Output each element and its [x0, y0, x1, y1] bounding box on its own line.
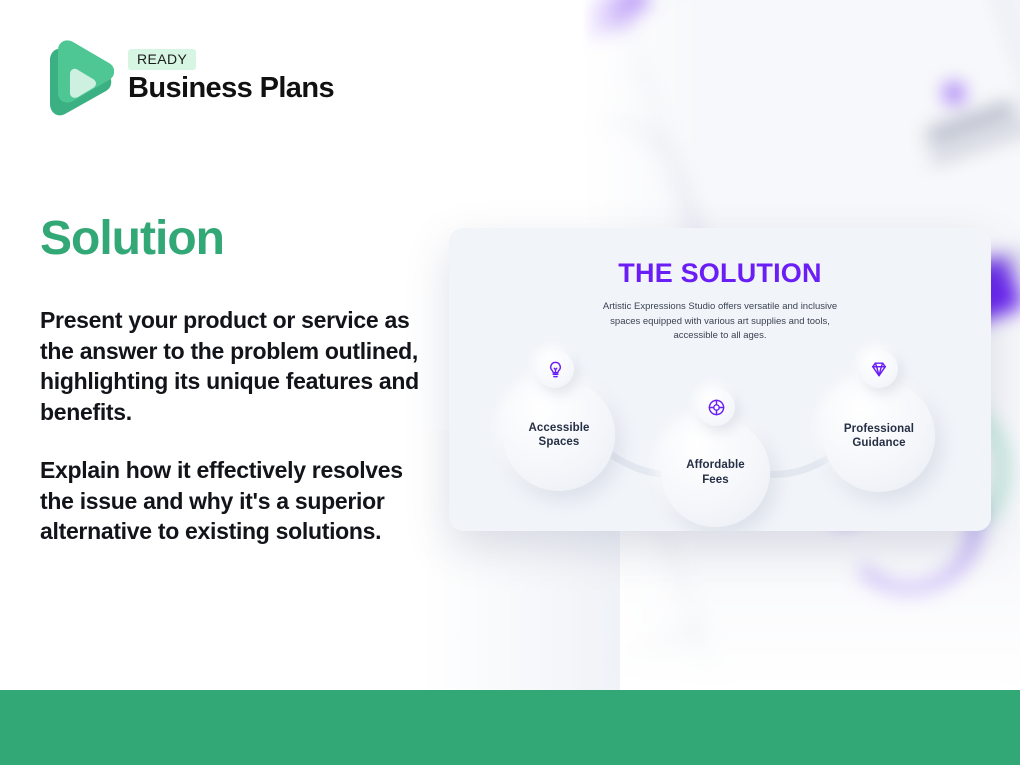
bubble-icon-holder — [536, 350, 574, 388]
bubble-accessible-spaces[interactable]: Accessible Spaces — [503, 379, 615, 491]
body-copy: Present your product or service as the a… — [40, 305, 440, 547]
bubble-label-line2: Fees — [702, 474, 729, 486]
footer-bar — [0, 690, 1020, 765]
lightbulb-icon — [546, 360, 565, 379]
bubble-label: Professional Guidance — [844, 422, 914, 451]
brand-logo: READY Business Plans — [40, 38, 334, 116]
slide-preview-card[interactable]: THE SOLUTION Artistic Expressions Studio… — [449, 228, 991, 531]
bubble-label: Accessible Spaces — [528, 421, 589, 450]
bubble-label-line1: Professional — [844, 423, 914, 435]
page-title: Solution — [40, 215, 224, 263]
ready-badge: READY — [128, 49, 196, 70]
bubble-label-line2: Guidance — [852, 437, 905, 449]
brand-name: Business Plans — [128, 73, 334, 105]
bubble-icon-holder — [860, 350, 898, 388]
bubble-label-line1: Accessible — [528, 422, 589, 434]
body-paragraph-2: Explain how it effectively resolves the … — [40, 455, 440, 547]
bubble-label-line2: Spaces — [539, 436, 580, 448]
lifebuoy-icon — [707, 398, 726, 417]
bubble-label-line1: Affordable — [686, 459, 745, 471]
bubble-professional-guidance[interactable]: Professional Guidance — [823, 380, 935, 492]
bubble-icon-holder — [697, 388, 735, 426]
body-paragraph-1: Present your product or service as the a… — [40, 305, 440, 427]
diamond-icon — [869, 359, 889, 379]
bubble-affordable-fees[interactable]: Affordable Fees — [661, 418, 770, 527]
slide-page: READY Business Plans Solution Present yo… — [0, 0, 1020, 765]
play-triangle-logo-icon — [40, 38, 114, 116]
bubble-label: Affordable Fees — [686, 458, 745, 487]
